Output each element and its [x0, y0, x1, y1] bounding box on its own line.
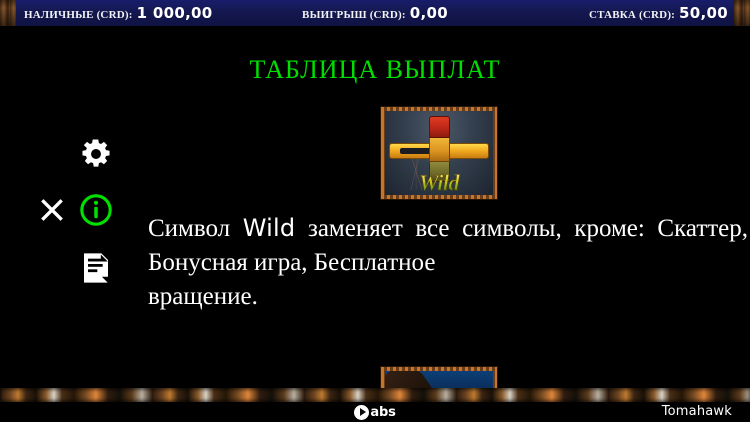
brand-logo: abs — [0, 402, 750, 422]
win-meter-value: 0,00 — [410, 4, 448, 22]
wood-trim-right — [734, 0, 750, 26]
game-title-label: Tomahawk — [662, 402, 732, 422]
totem-head — [429, 116, 450, 138]
bet-meter-label: СТАВКА (CRD): — [589, 9, 675, 21]
description-tail: вращение. — [148, 280, 748, 314]
description-body: заменяет все символы, кроме: Скаттер, Бо… — [148, 215, 748, 276]
wild-symbol-caption: Wild — [385, 172, 493, 194]
top-bar-divider — [0, 26, 750, 29]
play-triangle-icon — [354, 405, 369, 420]
paytable-title: ТАБЛИЦА ВЫПЛАТ — [0, 55, 750, 85]
description-wild-token: Wild — [243, 214, 296, 242]
wood-trim-left — [0, 0, 16, 26]
close-icon[interactable] — [32, 190, 72, 230]
description-prefix: Символ — [148, 215, 230, 242]
game-screen: НАЛИЧНЫЕ (CRD):1 000,00 ВЫИГРЫШ (CRD):0,… — [0, 0, 750, 422]
bet-meter: СТАВКА (CRD):50,00 — [589, 0, 728, 26]
top-meter-bar: НАЛИЧНЫЕ (CRD):1 000,00 ВЫИГРЫШ (CRD):0,… — [0, 0, 750, 26]
rules-icon[interactable] — [76, 248, 116, 288]
paytable-icon-rail — [26, 128, 126, 308]
bottom-texture-strip — [0, 388, 750, 402]
wild-symbol-art: Wild — [385, 111, 493, 195]
wild-symbol-card: Wild — [380, 106, 498, 200]
totem-body — [429, 137, 450, 162]
gear-icon[interactable] — [76, 134, 116, 174]
info-icon[interactable] — [76, 190, 116, 230]
brand-logo-text: abs — [370, 405, 395, 420]
paytable-description: Символ Wild заменяет все символы, кроме:… — [148, 211, 748, 314]
footer-bar: abs Tomahawk — [0, 402, 750, 422]
bet-meter-value: 50,00 — [679, 4, 728, 22]
win-meter-label: ВЫИГРЫШ (CRD): — [302, 9, 406, 21]
